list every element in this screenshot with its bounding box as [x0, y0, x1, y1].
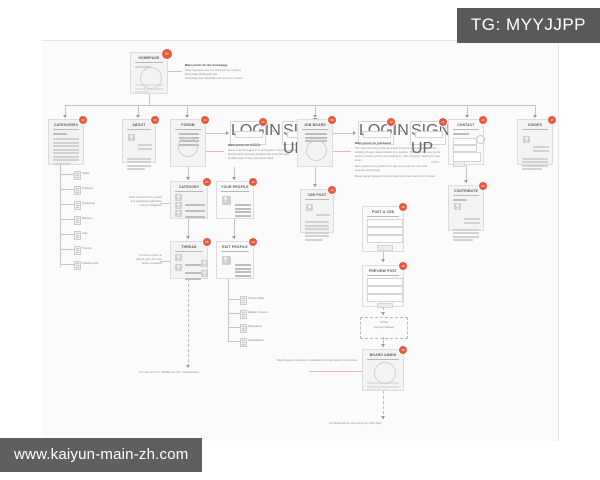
category-item-label: Processing — [82, 202, 95, 205]
node-title: BOARD ADMIN — [363, 350, 403, 357]
node-title: YOUR PROFILE — [217, 182, 253, 189]
gateway-line1: Off-site — [361, 318, 407, 325]
step-badge: 17 — [548, 116, 556, 124]
page-icon — [240, 324, 247, 333]
node-contribute[interactable]: CONTRIBUTE — [448, 185, 484, 231]
input-field[interactable] — [453, 138, 477, 145]
page-icon — [74, 246, 81, 255]
note-leader — [206, 151, 224, 152]
step-badge: 07 — [203, 178, 211, 186]
step-badge: 03 — [151, 116, 159, 124]
page-icon — [240, 338, 247, 347]
note-board-admin: Board design reviews the moderated ones … — [274, 359, 360, 363]
node-title: FORUM — [171, 120, 205, 127]
footnote-admin: Job Board will own the people from Who A… — [329, 422, 382, 425]
footnote-thread: The user and Turn: Edit/Browse The - Adm… — [139, 371, 199, 374]
note-leader — [333, 151, 351, 152]
sitemap-canvas: HOMEPAGE 01 Main points for the homepage… — [42, 40, 559, 441]
input-field[interactable] — [453, 145, 477, 152]
tg-badge: TG: MYYJJPP — [457, 8, 600, 43]
arrow-down-icon — [464, 180, 468, 183]
connector-bus — [65, 105, 535, 106]
input-field[interactable] — [235, 131, 263, 138]
note-category-side: More sections for the board and enhanced… — [118, 196, 162, 208]
connector-dashed — [188, 279, 189, 367]
page-icon — [240, 296, 247, 305]
node-title: CATEGORY — [171, 182, 207, 189]
submit-button[interactable] — [377, 245, 393, 251]
avatar-icon — [523, 136, 530, 143]
step-badge: 13 — [249, 238, 257, 246]
arrow-down-icon — [533, 115, 537, 118]
step-badge: 08 — [203, 238, 211, 246]
input-field[interactable] — [415, 131, 443, 138]
node-post-a-job[interactable]: POST A JOB — [362, 206, 404, 252]
pin-icon — [476, 135, 485, 144]
node-payment-gateway: Off-site Payment Gateway — [360, 317, 408, 339]
node-edit-profile[interactable]: EDIT PROFILE — [216, 241, 254, 279]
step-badge: 19 — [399, 346, 407, 354]
node-thread[interactable]: THREAD — [170, 241, 208, 279]
category-item-label: Jobs — [82, 232, 87, 235]
input-field[interactable] — [367, 219, 403, 227]
profile-sub-label: Subscriptions — [248, 339, 264, 342]
node-homepage[interactable]: HOMEPAGE — [130, 52, 168, 94]
gateway-line2: Payment Gateway — [361, 325, 407, 330]
page-icon — [74, 201, 81, 210]
arrow-down-icon — [381, 259, 385, 262]
node-title: EDIT PROFILE — [217, 242, 253, 249]
page-icon — [74, 216, 81, 225]
input-field[interactable] — [367, 227, 403, 235]
node-job-post[interactable]: JOB POST — [300, 189, 334, 233]
node-board-admin[interactable]: BOARD ADMIN — [362, 349, 404, 391]
node-your-profile[interactable]: YOUR PROFILE — [216, 181, 254, 219]
node-contact[interactable]: CONTACT — [448, 119, 484, 165]
node-categories[interactable]: CATEGORIES — [48, 119, 84, 165]
node-forum[interactable]: FORUM — [170, 119, 206, 167]
page-icon — [74, 171, 81, 180]
node-guides[interactable]: GUIDES — [517, 119, 553, 165]
node-title: CONTRIBUTE — [449, 186, 483, 193]
arrow-down-icon — [381, 416, 385, 419]
connector — [333, 133, 355, 134]
step-badge: 16 — [479, 116, 487, 124]
arrow-down-icon — [465, 115, 469, 118]
arrow-right-icon — [353, 131, 356, 135]
step-badge: 02 — [79, 116, 87, 124]
arrow-down-icon — [186, 365, 190, 368]
profile-sub-label: Replies / Interest — [248, 311, 267, 314]
or-label: OR — [398, 130, 402, 133]
node-category[interactable]: CATEGORY — [170, 181, 208, 219]
step-badge: 12 — [249, 178, 257, 186]
category-item-label: College & Job — [82, 262, 98, 265]
arrow-down-icon — [232, 177, 236, 180]
node-title: PREVIEW POST — [363, 266, 403, 273]
category-item-label: Training — [82, 247, 91, 250]
confirm-button[interactable] — [377, 303, 393, 308]
category-item-label: Prototype — [82, 187, 93, 190]
watermark: www.kaiyun-main-zh.com — [0, 438, 202, 472]
arrow-down-icon — [313, 184, 317, 187]
node-title: GUIDES — [518, 120, 552, 127]
arrow-down-icon — [232, 236, 236, 239]
node-preview-post[interactable]: PREVIEW POST — [362, 265, 404, 307]
arrow-down-icon — [381, 344, 385, 347]
arrow-down-icon — [185, 115, 189, 118]
arrow-down-icon — [63, 115, 67, 118]
page-icon — [74, 261, 81, 270]
node-title: THREAD — [171, 242, 207, 249]
connector — [149, 93, 150, 105]
arrow-down-icon — [186, 177, 190, 180]
step-badge: 01 — [162, 49, 172, 59]
step-badge: 20 — [479, 182, 487, 190]
note-leader — [310, 371, 362, 372]
step-badge: 10 — [387, 118, 395, 126]
note-title: Main points for forums — [228, 143, 358, 148]
node-title: CATEGORIES — [49, 120, 83, 127]
input-field[interactable] — [367, 235, 403, 243]
input-field[interactable] — [363, 131, 391, 138]
note-title: Main points for job board — [355, 141, 535, 146]
field — [367, 294, 403, 302]
arrow-down-icon — [381, 312, 385, 315]
arrow-down-icon — [136, 115, 140, 118]
or-label: OR — [270, 130, 274, 133]
arrow-right-icon — [226, 131, 229, 135]
page-icon — [74, 231, 81, 240]
field — [367, 286, 403, 294]
profile-sub-label: Discussions — [248, 325, 262, 328]
note-homepage: Main points for the homepage Allow high … — [185, 63, 305, 81]
connector — [206, 133, 228, 134]
step-badge: 15 — [399, 203, 407, 211]
note-leader — [168, 71, 182, 72]
node-jobboard[interactable]: JOB BOARD — [297, 119, 333, 167]
category-item-label: Charts — [82, 172, 90, 175]
note-title: Main points for the homepage — [185, 63, 305, 68]
note-thread-side: You can a option to add an reply to a ne… — [118, 254, 162, 266]
step-badge: 14 — [328, 186, 336, 194]
node-about[interactable]: ABOUT — [122, 119, 156, 163]
node-title: JOB BOARD — [298, 120, 332, 127]
page-icon — [74, 186, 81, 195]
step-badge: 18 — [399, 262, 407, 270]
category-item-label: Business — [82, 217, 93, 220]
step-badge: 05 — [259, 118, 267, 126]
step-badge: 11 — [439, 118, 447, 126]
node-title: CONTACT — [449, 120, 483, 127]
note-jobboard: Main points for job board The main job l… — [355, 141, 535, 179]
arrow-down-icon — [186, 236, 190, 239]
profile-sub-label: Theme Avatar — [248, 297, 264, 300]
field — [367, 278, 403, 286]
page-icon — [240, 310, 247, 319]
node-title: POST A JOB — [363, 207, 403, 214]
submit-button[interactable] — [453, 161, 465, 167]
avatar-icon — [128, 134, 135, 141]
step-badge: 09 — [328, 116, 336, 124]
note-forum: Main points for forums Users must be log… — [228, 143, 358, 161]
step-badge: 04 — [201, 116, 209, 124]
connector — [60, 165, 61, 267]
